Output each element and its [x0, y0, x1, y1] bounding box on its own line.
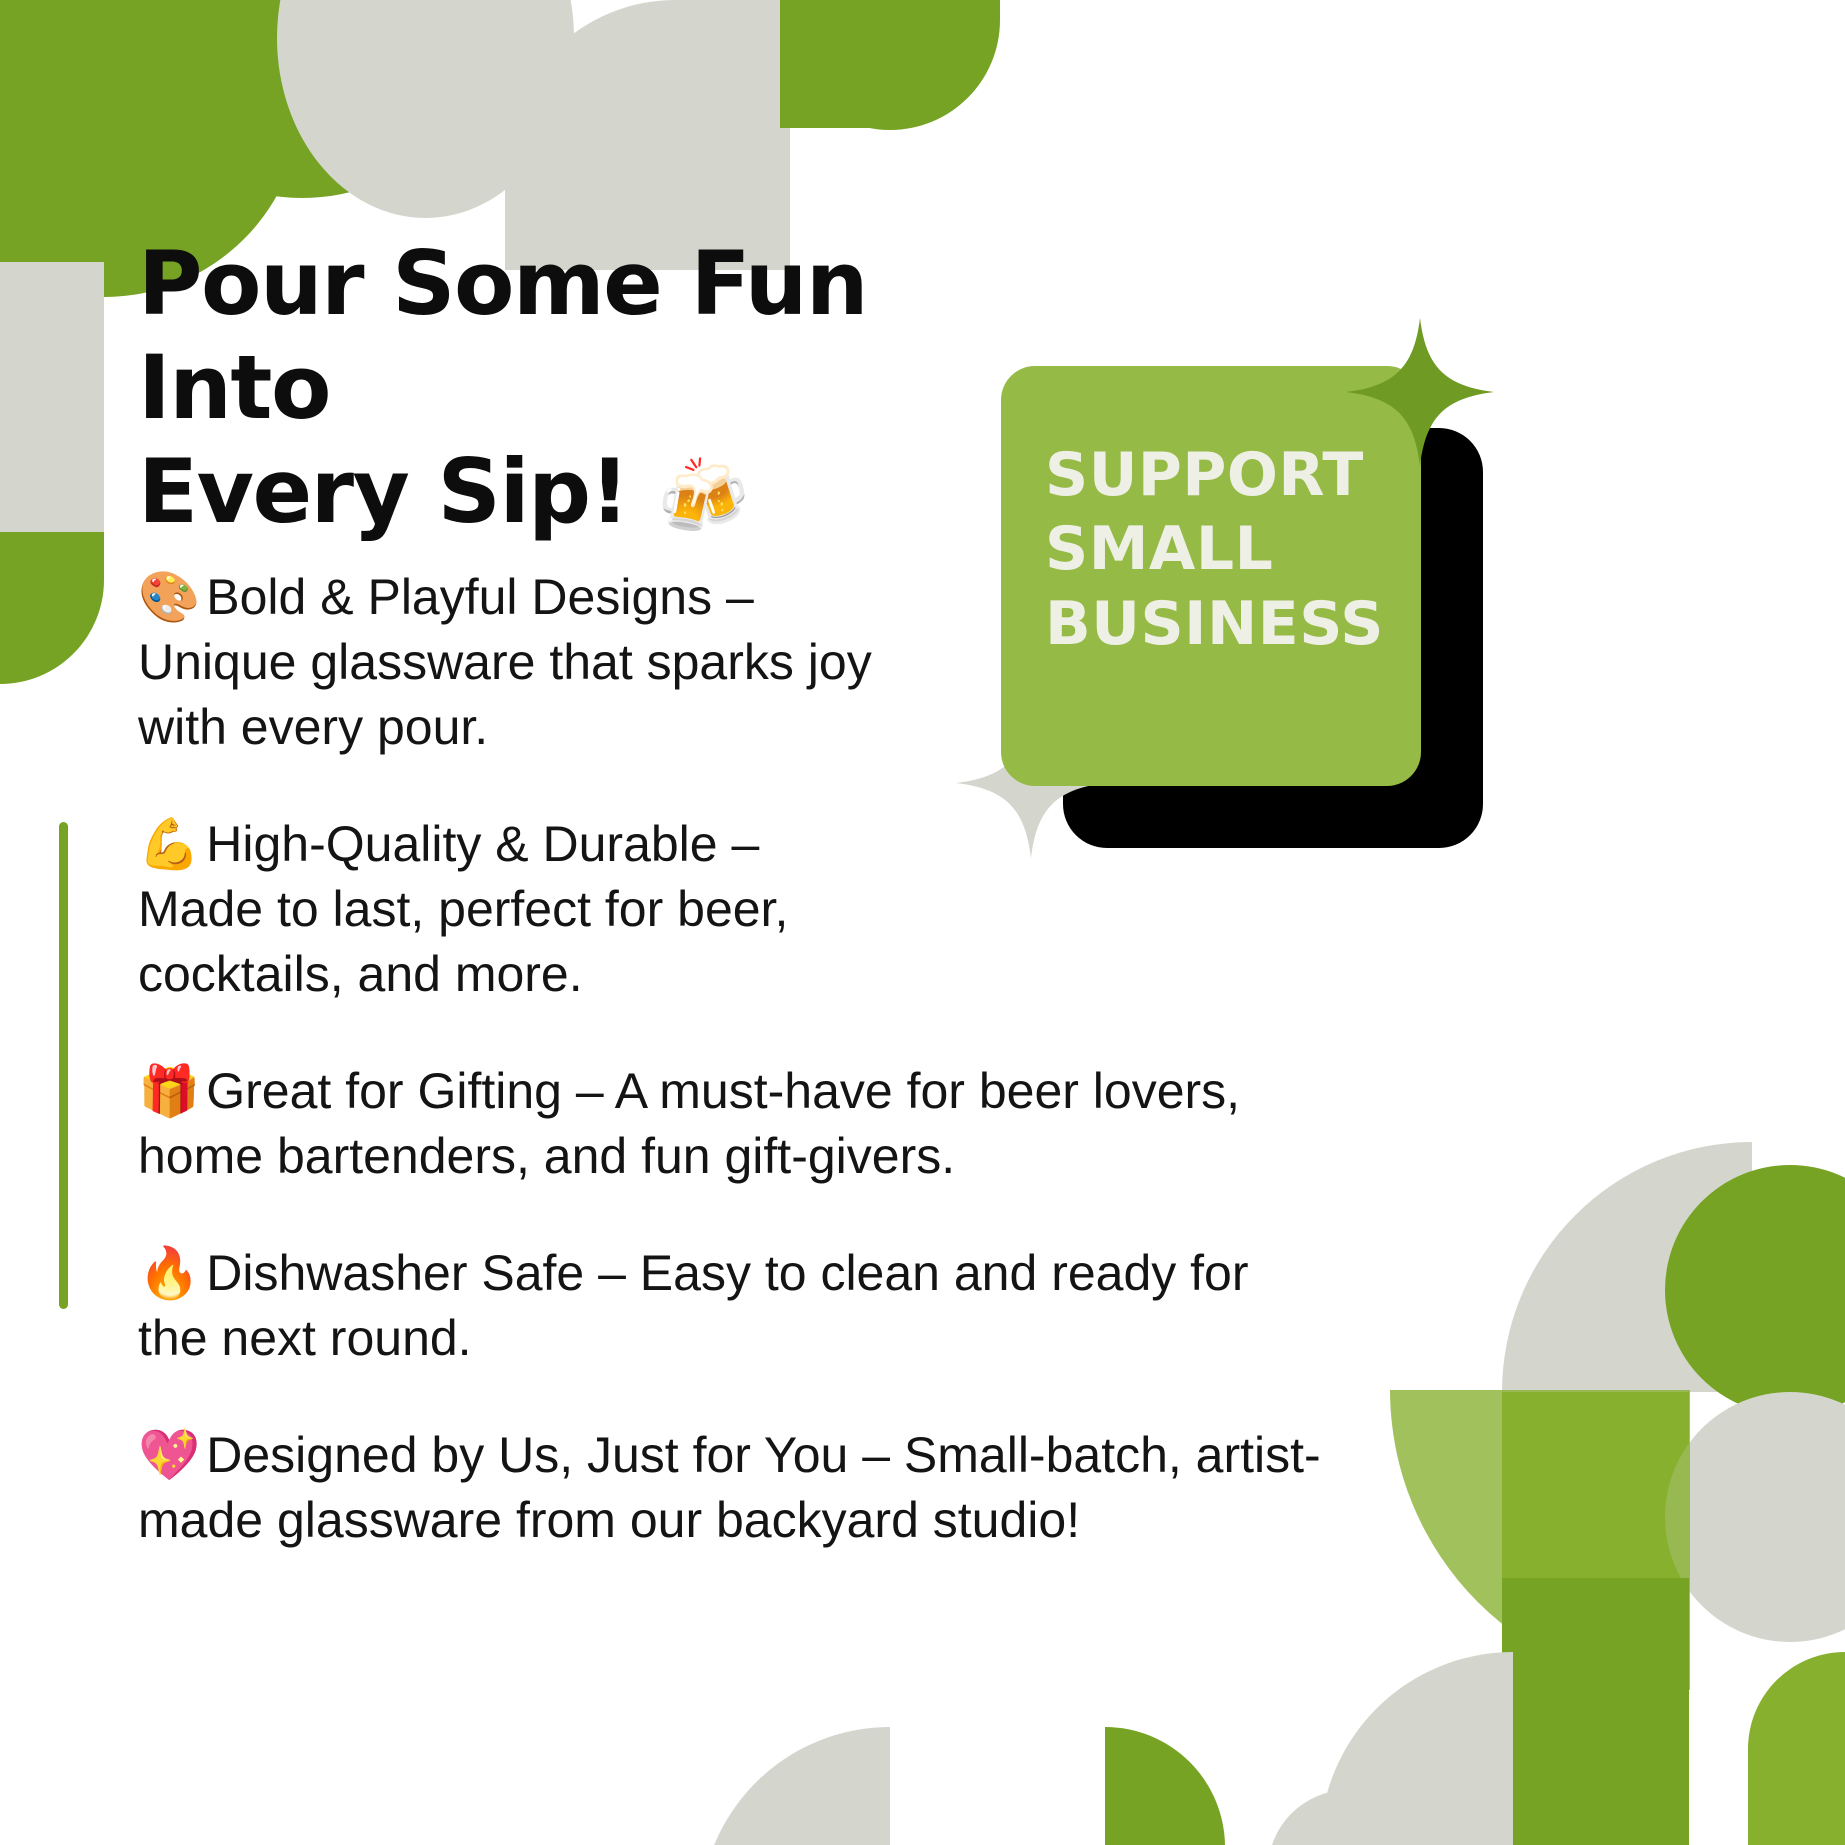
decor-gray-quarter-bottom-center-2 — [1268, 1790, 1348, 1845]
decor-green-quarter-bottom-edge — [1748, 1652, 1845, 1845]
decor-green-square-top — [780, 0, 890, 128]
decor-green-quarter-bottom-center — [1105, 1727, 1225, 1845]
clinking-beer-mugs-emoji: 🍻 — [657, 454, 748, 540]
list-item: 💖Designed by Us, Just for You – Small-ba… — [138, 1423, 1328, 1553]
list-item: 🔥Dishwasher Safe – Easy to clean and rea… — [138, 1241, 1328, 1371]
page-title: Pour Some Fun Into Every Sip! 🍻 — [138, 232, 978, 543]
headline-line-1: Pour Some Fun Into — [138, 232, 867, 439]
decor-gray-circle-bottom-right — [1665, 1392, 1845, 1642]
flexed-biceps-emoji: 💪 — [138, 816, 200, 872]
badge-line-2: SMALL — [1045, 514, 1273, 584]
decor-gray-quarter-bottom-center — [700, 1727, 890, 1845]
list-item: 🎁Great for Gifting – A must-have for bee… — [138, 1059, 1328, 1189]
badge-line-1: SUPPORT — [1045, 440, 1364, 510]
list-item-text: Dishwasher Safe – Easy to clean and read… — [138, 1245, 1249, 1366]
headline-line-2: Every Sip! — [138, 440, 628, 543]
badge-text: SUPPORT SMALL BUSINESS — [1045, 438, 1421, 661]
artist-palette-emoji: 🎨 — [138, 569, 200, 625]
decor-green-rect-lower-right — [1502, 1578, 1689, 1845]
list-item-text: Designed by Us, Just for You – Small-bat… — [138, 1427, 1321, 1548]
promotional-poster: Pour Some Fun Into Every Sip! 🍻 🎨Bold & … — [0, 0, 1845, 1845]
list-item-text: Bold & Playful Designs – Unique glasswar… — [138, 569, 872, 755]
decor-gray-rect-left — [0, 262, 104, 532]
fire-emoji: 🔥 — [138, 1245, 200, 1301]
wrapped-gift-emoji: 🎁 — [138, 1063, 200, 1119]
list-item: 💪High-Quality & Durable – Made to last, … — [138, 812, 898, 1007]
decor-vertical-accent-rule — [59, 822, 68, 1309]
list-item: 🎨Bold & Playful Designs – Unique glasswa… — [138, 565, 898, 760]
badge-card: SUPPORT SMALL BUSINESS — [1001, 366, 1421, 786]
list-item-text: High-Quality & Durable – Made to last, p… — [138, 816, 788, 1002]
decor-green-quarter-left — [0, 532, 104, 684]
sparkling-heart-emoji: 💖 — [138, 1427, 200, 1483]
decor-gray-quarter-bottom-edge — [1320, 1652, 1513, 1845]
badge-line-3: BUSINESS — [1045, 589, 1384, 659]
list-item-text: Great for Gifting – A must-have for beer… — [138, 1063, 1240, 1184]
